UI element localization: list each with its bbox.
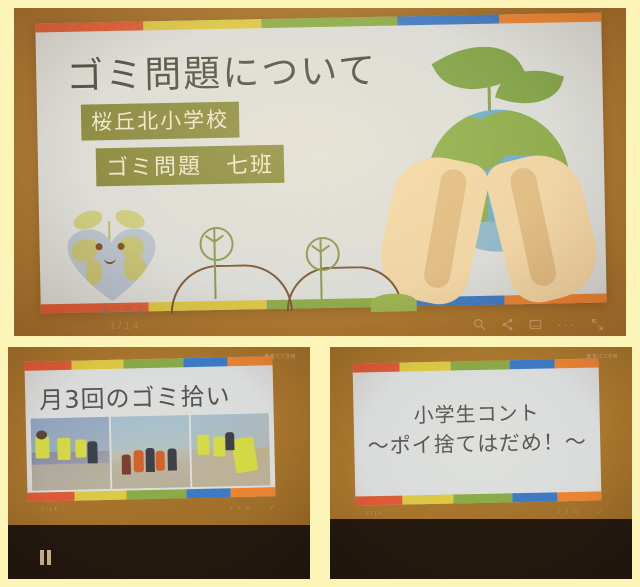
viewer-toolbar[interactable]: ⌕ ⟨ ▭ ··· ⤢ [558, 509, 604, 515]
photo-collage: ゴミ問題について 桜丘北小学校 ゴミ問題 七班 [0, 0, 640, 587]
bottom-right-photo-panel: 教育ICT活用 小学生コント 〜ポイ捨てはだめ！〜 6/14 ⌕ ⟨ ▭ ···… [330, 347, 632, 579]
slide-page-indicator: ‹ 3/14 › [34, 507, 66, 513]
hill-curve [170, 264, 293, 314]
photo-thumbnail [31, 417, 111, 491]
eye-shape [117, 243, 124, 250]
slide-body: ゴミ問題について 桜丘北小学校 ゴミ問題 七班 [35, 22, 606, 305]
skit-title-slide: 小学生コント 〜ポイ捨てはだめ！〜 [353, 358, 602, 505]
slide-title: 月3回のゴミ拾い [39, 376, 231, 415]
mascot-caption: エコるん [99, 302, 147, 319]
fullscreen-icon[interactable] [591, 318, 604, 331]
viewer-toolbar[interactable]: ⌕ ⟨ ▭ ··· ⤢ [230, 505, 276, 511]
slide-title-line-1: 小学生コント [353, 395, 600, 429]
group-name-tag: ゴミ問題 七班 [96, 145, 285, 187]
slide-body: 月3回のゴミ拾い [25, 365, 276, 493]
more-icon[interactable]: ··· [557, 320, 576, 329]
heart-shape [67, 228, 156, 302]
stage-front [8, 525, 310, 579]
slide-page-indicator: 1/14 [110, 321, 141, 332]
top-photo-panel: ゴミ問題について 桜丘北小学校 ゴミ問題 七班 [14, 8, 626, 336]
heart-earth-mascot-icon [63, 208, 161, 302]
school-name-tag: 桜丘北小学校 [81, 102, 240, 141]
share-icon[interactable] [501, 318, 514, 331]
slide-title-line-2: 〜ポイ捨てはだめ！〜 [354, 425, 601, 460]
stage-front [330, 519, 632, 579]
photo-thumbnail [111, 415, 191, 489]
slide-page-indicator: 6/14 [366, 511, 384, 517]
trash-pickup-slide: 月3回のゴミ拾い [24, 356, 275, 502]
hands-holding-globe-illustration [377, 36, 597, 305]
slide-body: 小学生コント 〜ポイ捨てはだめ！〜 [353, 367, 602, 496]
projected-title-slide: ゴミ問題について 桜丘北小学校 ゴミ問題 七班 [35, 13, 606, 314]
bottom-left-photo-panel: 教育ICT活用 月3回のゴミ拾い [8, 347, 310, 579]
present-icon[interactable] [529, 318, 542, 331]
viewer-toolbar[interactable]: ··· [473, 318, 604, 331]
pause-icon[interactable] [40, 550, 51, 565]
photo-thumbnail [191, 413, 271, 487]
bush-shape [371, 293, 417, 312]
slide-title: ゴミ問題について [66, 40, 378, 100]
photo-strip [31, 413, 271, 490]
zoom-icon[interactable] [473, 318, 486, 331]
